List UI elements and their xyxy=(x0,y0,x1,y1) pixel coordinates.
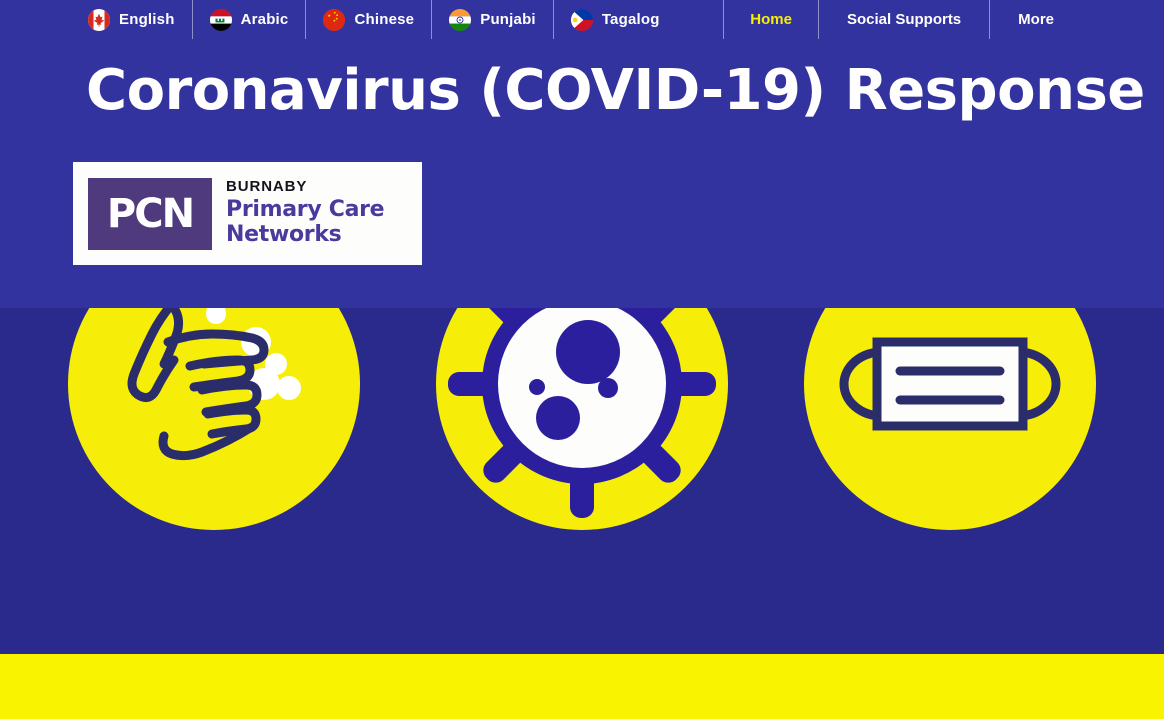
pcn-logo-eyebrow: BURNABY xyxy=(226,179,384,194)
pcn-logo-wordmark: BURNABY Primary Care Networks xyxy=(226,179,384,247)
language-option-punjabi[interactable]: Punjabi xyxy=(431,0,553,39)
language-option-chinese[interactable]: Chinese xyxy=(305,0,431,39)
canada-flag-icon xyxy=(88,9,110,31)
nav-item-more[interactable]: More xyxy=(989,0,1082,39)
language-selector: English Arabic xyxy=(80,0,677,39)
nav-item-home[interactable]: Home xyxy=(723,0,818,39)
pcn-logo[interactable]: PCN BURNABY Primary Care Networks xyxy=(73,162,422,265)
language-option-english[interactable]: English xyxy=(80,0,192,39)
page-title: Coronavirus (COVID-19) Response xyxy=(86,58,1145,123)
pcn-logo-mark: PCN xyxy=(88,178,212,250)
pcn-logo-line-2: Networks xyxy=(226,223,384,248)
footer-band xyxy=(0,654,1164,719)
nav-item-social-supports[interactable]: Social Supports xyxy=(818,0,989,39)
pcn-logo-line-1: Primary Care xyxy=(226,198,384,223)
language-label: Punjabi xyxy=(480,11,536,28)
language-label: Tagalog xyxy=(602,11,660,28)
language-label: English xyxy=(119,11,175,28)
top-navigation-bar: English Arabic xyxy=(0,0,1164,39)
philippines-flag-icon xyxy=(571,9,593,31)
china-flag-icon xyxy=(323,9,345,31)
iraq-flag-icon xyxy=(210,9,232,31)
india-flag-icon xyxy=(449,9,471,31)
language-option-tagalog[interactable]: Tagalog xyxy=(553,0,677,39)
language-label: Chinese xyxy=(354,11,414,28)
language-option-arabic[interactable]: Arabic xyxy=(192,0,306,39)
main-navigation: Home Social Supports More xyxy=(723,0,1082,39)
pcn-logo-mark-text: PCN xyxy=(107,191,193,237)
language-label: Arabic xyxy=(241,11,289,28)
